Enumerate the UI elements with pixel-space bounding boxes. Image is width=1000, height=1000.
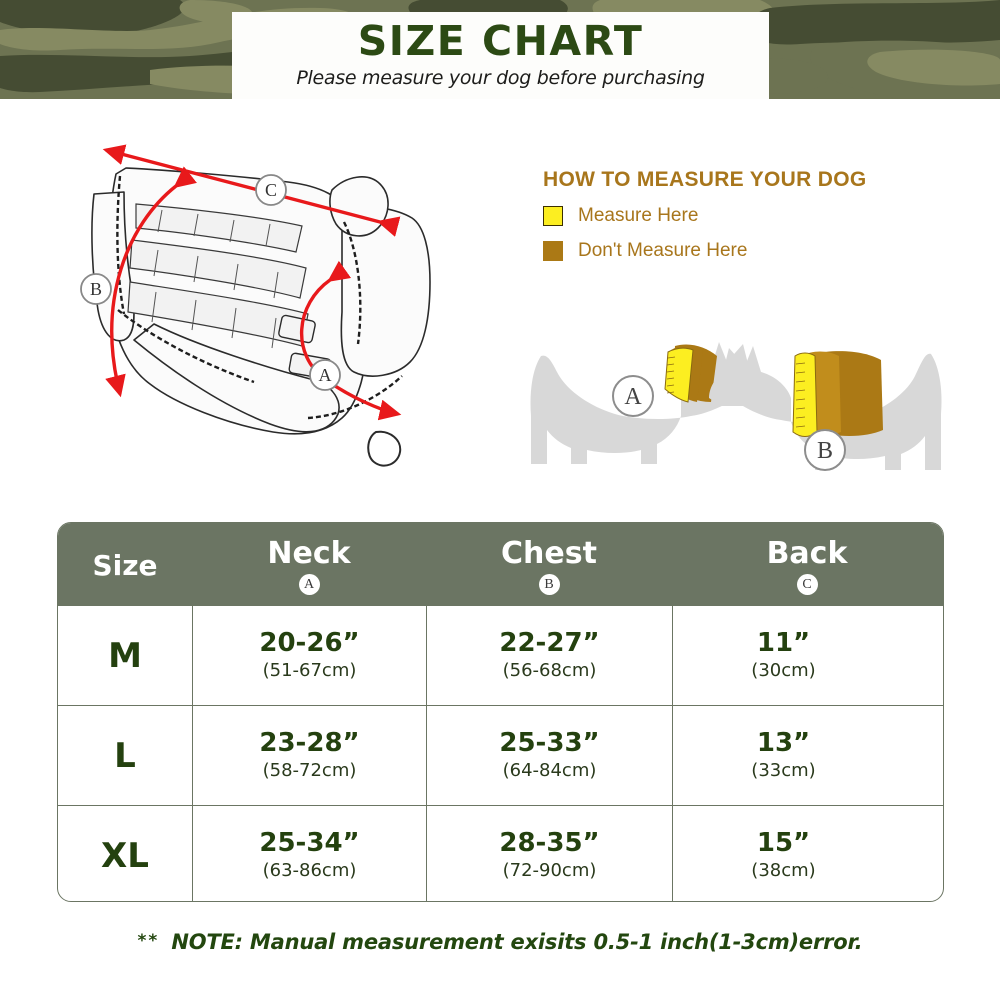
footer-note-text: NOTE: Manual measurement exisits 0.5-1 i…: [171, 930, 862, 954]
legend-item-dont-measure-here: Don't Measure Here: [543, 240, 963, 262]
neck-cm: (51-67cm): [263, 659, 357, 683]
measuring-tape-a: [665, 348, 693, 402]
size-value: L: [114, 736, 136, 776]
table-cell-chest: 22-27” (56-68cm): [426, 606, 672, 705]
table-row: M 20-26” (51-67cm) 22-27” (56-68cm) 11” …: [58, 605, 943, 705]
table-cell-neck: 25-34” (63-86cm): [192, 806, 426, 902]
table-header-neck: Neck A: [192, 523, 426, 605]
neck-inches: 20-26”: [259, 629, 359, 657]
table-header-back-label: Back: [767, 537, 848, 571]
neck-cm: (63-86cm): [263, 859, 357, 883]
measuring-tape-b: [793, 353, 817, 437]
brown-swatch-icon: [543, 241, 563, 261]
table-cell-neck: 20-26” (51-67cm): [192, 606, 426, 705]
harness-drawing: C B A: [58, 132, 468, 502]
table-cell-back: 15” (38cm): [672, 806, 942, 902]
footer-note: **NOTE: Manual measurement exisits 0.5-1…: [0, 930, 1000, 954]
table-header-chest: Chest B: [426, 523, 672, 605]
table-cell-back: 13” (33cm): [672, 706, 942, 805]
table-cell-chest: 25-33” (64-84cm): [426, 706, 672, 805]
badge-c-icon: C: [797, 574, 818, 595]
legend-label-measure-here: Measure Here: [578, 205, 698, 227]
dog-measure-diagrams: A B: [505, 298, 965, 498]
size-value: XL: [101, 836, 149, 876]
chest-cm: (72-90cm): [503, 859, 597, 883]
page-title: SIZE CHART: [358, 18, 644, 64]
badge-a-icon: A: [299, 574, 320, 595]
table-header-neck-label: Neck: [267, 537, 350, 571]
harness-marker-b: B: [81, 274, 111, 304]
table-header-row: Size Neck A Chest B Back C: [58, 523, 943, 605]
how-to-measure-legend: HOW TO MEASURE YOUR DOG Measure Here Don…: [543, 168, 963, 262]
badge-b-icon: B: [539, 574, 560, 595]
neck-cm: (58-72cm): [263, 759, 357, 783]
back-cm: (30cm): [751, 659, 815, 683]
dog-marker-a: A: [613, 376, 653, 416]
size-chart-page: SIZE CHART Please measure your dog befor…: [0, 0, 1000, 1000]
footer-stars: **: [138, 931, 160, 951]
table-cell-size: L: [58, 706, 192, 805]
chest-inches: 25-33”: [499, 729, 599, 757]
dog-diagrams-svg: A B: [505, 298, 965, 498]
neck-inches: 25-34”: [259, 829, 359, 857]
table-row: L 23-28” (58-72cm) 25-33” (64-84cm) 13” …: [58, 705, 943, 805]
chest-inches: 28-35”: [499, 829, 599, 857]
svg-text:A: A: [319, 365, 332, 385]
back-cm: (38cm): [751, 859, 815, 883]
harness-marker-c: C: [256, 175, 286, 205]
table-header-size-label: Size: [92, 549, 157, 583]
svg-text:C: C: [265, 180, 277, 200]
harness-marker-a: A: [310, 360, 340, 390]
dog-marker-b: B: [805, 430, 845, 470]
table-cell-size: XL: [58, 806, 192, 902]
how-to-measure-title: HOW TO MEASURE YOUR DOG: [543, 168, 963, 192]
table-header-size: Size: [58, 523, 192, 605]
table-header-chest-label: Chest: [501, 537, 597, 571]
legend-label-dont-measure-here: Don't Measure Here: [578, 240, 747, 262]
legend-item-measure-here: Measure Here: [543, 205, 963, 227]
table-header-back: Back C: [672, 523, 942, 605]
svg-text:B: B: [90, 279, 102, 299]
title-banner: SIZE CHART Please measure your dog befor…: [232, 12, 769, 99]
back-inches: 13”: [757, 729, 810, 757]
svg-text:A: A: [624, 384, 642, 410]
table-cell-neck: 23-28” (58-72cm): [192, 706, 426, 805]
size-table: Size Neck A Chest B Back C M 20-26” (51-…: [57, 522, 944, 902]
back-inches: 15”: [757, 829, 810, 857]
page-subtitle: Please measure your dog before purchasin…: [296, 65, 704, 91]
table-cell-back: 11” (30cm): [672, 606, 942, 705]
harness-illustration: C B A: [58, 132, 468, 502]
svg-text:B: B: [817, 438, 833, 464]
chest-cm: (64-84cm): [503, 759, 597, 783]
neck-inches: 23-28”: [259, 729, 359, 757]
table-row: XL 25-34” (63-86cm) 28-35” (72-90cm) 15”…: [58, 805, 943, 902]
size-value: M: [108, 636, 142, 676]
yellow-swatch-icon: [543, 206, 563, 226]
chest-inches: 22-27”: [499, 629, 599, 657]
back-inches: 11”: [757, 629, 810, 657]
back-cm: (33cm): [751, 759, 815, 783]
table-cell-chest: 28-35” (72-90cm): [426, 806, 672, 902]
table-cell-size: M: [58, 606, 192, 705]
chest-cm: (56-68cm): [503, 659, 597, 683]
camo-header-band: SIZE CHART Please measure your dog befor…: [0, 0, 1000, 99]
